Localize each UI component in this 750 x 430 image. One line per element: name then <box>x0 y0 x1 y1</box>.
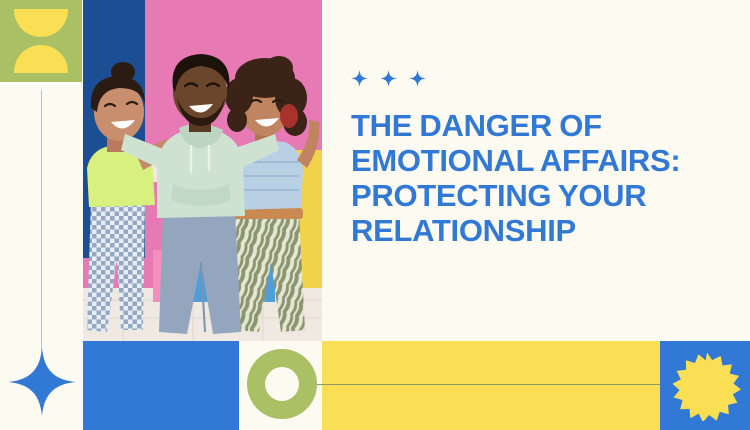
horizontal-divider <box>283 384 660 385</box>
hourglass-top-bowl <box>14 9 68 37</box>
hero-photo <box>83 0 322 341</box>
sparkle-row <box>351 70 426 87</box>
sparkle-icon <box>409 70 426 87</box>
page-title: The Danger of Emotional Affairs: Protect… <box>351 108 711 248</box>
donut-ring-icon <box>247 349 317 419</box>
sparkle-icon <box>351 70 368 87</box>
bottom-blue-block <box>83 341 239 430</box>
poster-canvas: The Danger of Emotional Affairs: Protect… <box>0 0 750 430</box>
vertical-divider <box>41 90 42 362</box>
title-column: The Danger of Emotional Affairs: Protect… <box>351 0 711 341</box>
hourglass-icon <box>14 9 68 73</box>
hourglass-bottom-bowl <box>14 45 68 73</box>
sparkle-icon <box>380 70 397 87</box>
sunburst-badge <box>660 341 750 430</box>
hourglass-badge <box>0 0 82 82</box>
sunburst-icon <box>672 351 742 421</box>
four-point-star-icon <box>8 348 76 416</box>
bottom-yellow-block <box>322 341 660 430</box>
